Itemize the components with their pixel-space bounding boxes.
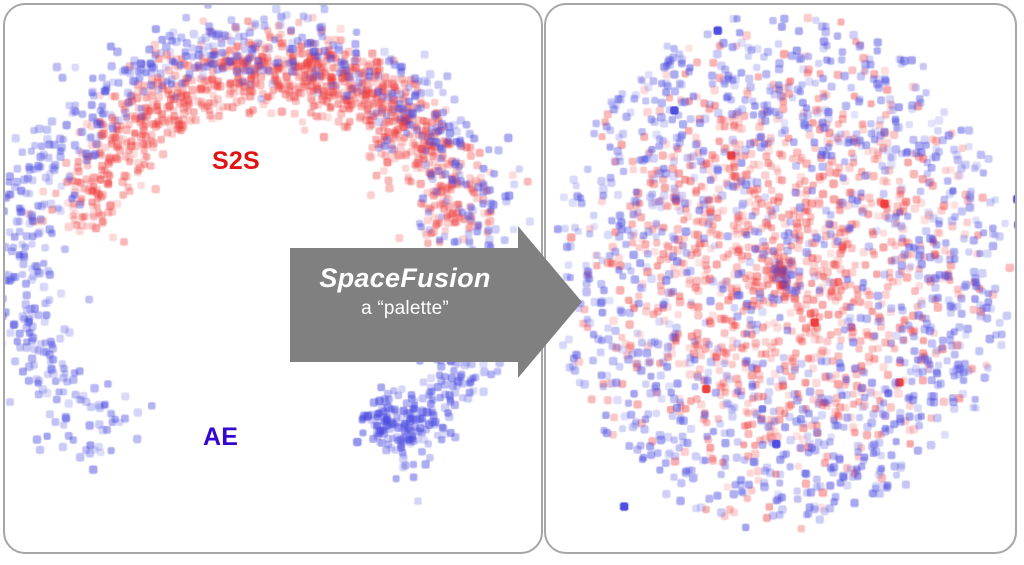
fused-space-panel (544, 3, 1017, 554)
fused-space-scatter (546, 5, 1015, 552)
spacefusion-arrow: SpaceFusion a “palette” (290, 218, 582, 388)
right-arrow-icon (290, 218, 582, 388)
ae-cloud-label: AE (203, 425, 238, 450)
spacefusion-figure: S2S AE SpaceFusion a “palette” (0, 0, 1024, 565)
s2s-cloud-label: S2S (212, 149, 260, 174)
